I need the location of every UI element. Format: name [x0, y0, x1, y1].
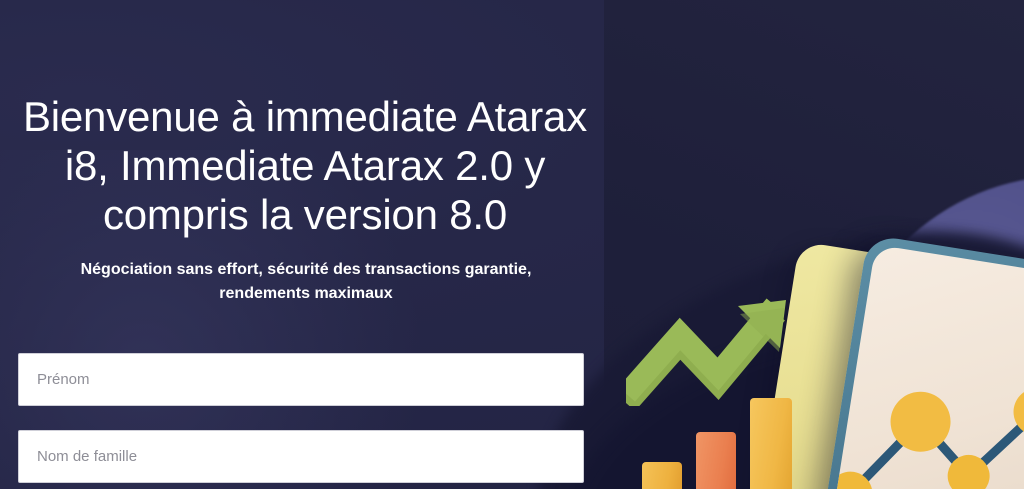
bar-chart-bar [642, 462, 682, 489]
bar-chart-icon [640, 400, 800, 489]
page-title: Bienvenue à immediate Atarax i8, Immedia… [0, 0, 612, 239]
bar-chart-bar [696, 432, 736, 489]
phone-screen [833, 245, 1024, 489]
line-chart-icon [833, 245, 1024, 489]
landing-hero-page: Bienvenue à immediate Atarax i8, Immedia… [0, 0, 1024, 489]
growth-arrow-icon [626, 286, 846, 406]
signup-form [18, 353, 584, 489]
hero-copy: Bienvenue à immediate Atarax i8, Immedia… [0, 0, 612, 306]
last-name-input[interactable] [18, 430, 584, 483]
page-subtitle: Négociation sans effort, sécurité des tr… [0, 239, 612, 306]
first-name-input[interactable] [18, 353, 584, 406]
bar-chart-bar [750, 398, 792, 489]
trading-growth-3d-illustration [612, 200, 1024, 489]
